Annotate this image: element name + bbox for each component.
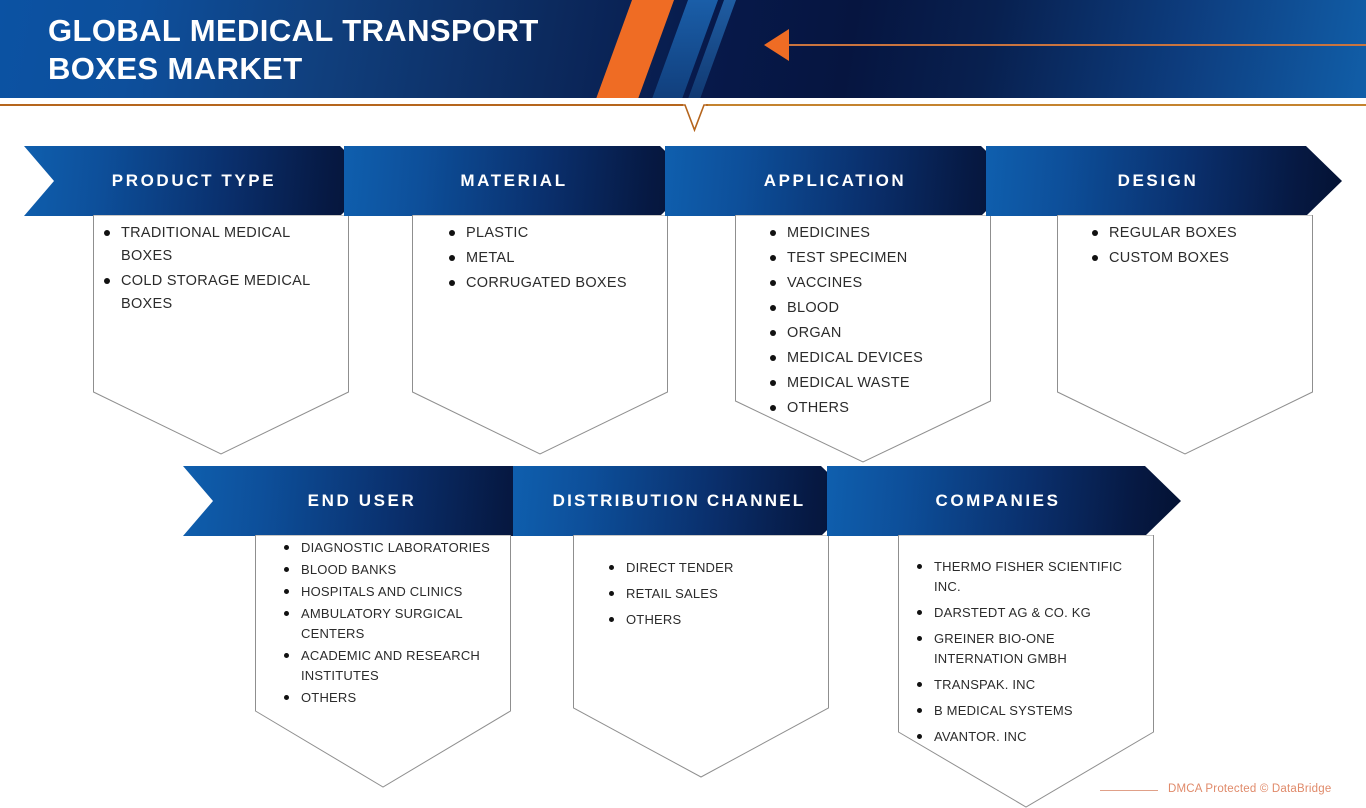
banner-label: DISTRIBUTION CHANNEL (553, 491, 806, 511)
banner-label: APPLICATION (764, 171, 907, 191)
banner-product-type: PRODUCT TYPE (24, 146, 376, 216)
list-item: REGULAR BOXES (1092, 222, 1307, 245)
list-item: TRANSPAK. INC (917, 675, 1147, 695)
list-item: DARSTEDT AG & CO. KG (917, 603, 1147, 623)
list-companies: THERMO FISHER SCIENTIFIC INC. DARSTEDT A… (917, 557, 1147, 747)
list-material: PLASTIC METAL CORRUGATED BOXES (449, 222, 659, 295)
banner-application: APPLICATION (665, 146, 1017, 216)
list-item: OTHERS (284, 688, 499, 708)
panel-application: MEDICINES TEST SPECIMEN VACCINES BLOOD O… (770, 222, 985, 422)
list-distribution-channel: DIRECT TENDER RETAIL SALES OTHERS (609, 558, 819, 630)
list-item: PLASTIC (449, 222, 659, 245)
panel-material: PLASTIC METAL CORRUGATED BOXES (449, 222, 659, 297)
list-item: ACADEMIC AND RESEARCH INSTITUTES (284, 646, 499, 686)
panel-design: REGULAR BOXES CUSTOM BOXES (1092, 222, 1307, 272)
list-item: MEDICAL DEVICES (770, 347, 985, 370)
list-item: THERMO FISHER SCIENTIFIC INC. (917, 557, 1147, 597)
banner-label: PRODUCT TYPE (112, 171, 276, 191)
list-product-type: TRADITIONAL MEDICAL BOXES COLD STORAGE M… (104, 222, 344, 316)
panel-companies: THERMO FISHER SCIENTIFIC INC. DARSTEDT A… (917, 557, 1147, 753)
list-item: HOSPITALS AND CLINICS (284, 582, 499, 602)
divider-rule-right (706, 104, 1366, 106)
banner-label: COMPANIES (935, 491, 1060, 511)
list-item: OTHERS (609, 610, 819, 630)
list-design: REGULAR BOXES CUSTOM BOXES (1092, 222, 1307, 270)
divider-notch-icon (681, 104, 708, 132)
banner-label: DESIGN (1118, 171, 1199, 191)
list-item: METAL (449, 247, 659, 270)
header-rule (789, 44, 1366, 46)
left-arrow-icon (764, 29, 789, 61)
divider-rule-left (0, 104, 683, 106)
list-item: OTHERS (770, 397, 985, 420)
panel-distribution-channel: DIRECT TENDER RETAIL SALES OTHERS (609, 558, 819, 636)
watermark-text: DMCA Protected © DataBridge (1168, 783, 1331, 795)
list-item: TRADITIONAL MEDICAL BOXES (104, 222, 344, 268)
banner-material: MATERIAL (344, 146, 696, 216)
list-item: ORGAN (770, 322, 985, 345)
panel-end-user: DIAGNOSTIC LABORATORIES BLOOD BANKS HOSP… (284, 538, 499, 710)
banner-design: DESIGN (986, 146, 1342, 216)
banner-label: END USER (308, 491, 417, 511)
list-item: TEST SPECIMEN (770, 247, 985, 270)
page-header: GLOBAL MEDICAL TRANSPORT BOXES MARKET (0, 0, 1366, 98)
list-item: CORRUGATED BOXES (449, 272, 659, 295)
list-item: MEDICAL WASTE (770, 372, 985, 395)
list-item: GREINER BIO-ONE INTERNATION GMBH (917, 629, 1147, 669)
list-item: DIAGNOSTIC LABORATORIES (284, 538, 499, 558)
list-item: CUSTOM BOXES (1092, 247, 1307, 270)
page-title: GLOBAL MEDICAL TRANSPORT BOXES MARKET (48, 12, 539, 88)
banner-end-user: END USER (183, 466, 553, 536)
banner-distribution-channel: DISTRIBUTION CHANNEL (513, 466, 857, 536)
list-item: MEDICINES (770, 222, 985, 245)
panel-product-type: TRADITIONAL MEDICAL BOXES COLD STORAGE M… (104, 222, 344, 318)
list-item: AVANTOR. INC (917, 727, 1147, 747)
list-end-user: DIAGNOSTIC LABORATORIES BLOOD BANKS HOSP… (284, 538, 499, 708)
banner-label: MATERIAL (460, 171, 567, 191)
list-item: AMBULATORY SURGICAL CENTERS (284, 604, 499, 644)
list-item: DIRECT TENDER (609, 558, 819, 578)
list-item: VACCINES (770, 272, 985, 295)
watermark-rule (1100, 790, 1158, 791)
list-item: COLD STORAGE MEDICAL BOXES (104, 270, 344, 316)
banner-companies: COMPANIES (827, 466, 1181, 536)
list-item: RETAIL SALES (609, 584, 819, 604)
list-application: MEDICINES TEST SPECIMEN VACCINES BLOOD O… (770, 222, 985, 420)
list-item: BLOOD (770, 297, 985, 320)
list-item: B MEDICAL SYSTEMS (917, 701, 1147, 721)
list-item: BLOOD BANKS (284, 560, 499, 580)
